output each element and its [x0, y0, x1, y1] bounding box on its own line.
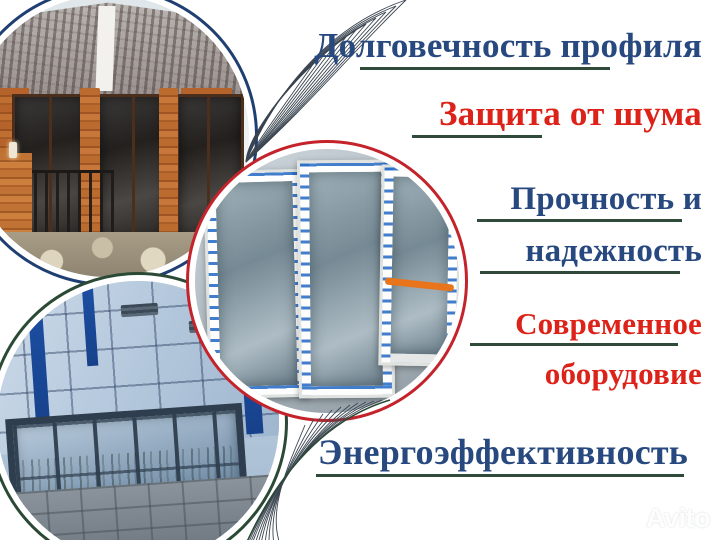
headline-text: Защита от шума — [439, 96, 702, 132]
headline-underline — [412, 135, 542, 138]
house-roof — [0, 1, 249, 100]
house-lamp — [9, 142, 17, 158]
house-roof-ridge — [95, 6, 115, 91]
headline-durability: Долговечность профиля — [314, 28, 702, 70]
headline-underline — [470, 343, 678, 346]
headline-strength: Прочность и — [477, 182, 702, 222]
facade-vent — [121, 302, 158, 317]
headline-text: Энергоэффективность — [318, 434, 688, 471]
poster-canvas: Долговечность профиля Защита от шума Про… — [0, 0, 720, 540]
avito-wordmark: Avito — [646, 503, 710, 534]
headline-text: Долговечность профиля — [314, 28, 702, 64]
headline-noise-protection: Защита от шума — [412, 96, 702, 138]
headline-text: Современное — [515, 308, 702, 340]
headline-modern: Современное — [470, 308, 702, 346]
headline-stack: Долговечность профиля Защита от шума Про… — [232, 0, 702, 540]
headline-underline — [360, 67, 610, 70]
headline-equipment: оборудовие — [545, 358, 702, 396]
headline-text: надежность — [525, 234, 702, 268]
headline-underline — [477, 219, 682, 222]
headline-energy-efficiency: Энергоэффективность — [316, 434, 688, 477]
house-corner-post-b — [159, 88, 179, 246]
headline-underline — [316, 474, 684, 477]
headline-reliability: надежность — [480, 234, 702, 274]
avito-logo-icon — [616, 506, 642, 532]
avito-watermark: Avito — [616, 503, 710, 534]
headline-underline — [480, 271, 680, 274]
headline-text: Прочность и — [510, 182, 702, 216]
headline-text: оборудовие — [545, 358, 702, 390]
